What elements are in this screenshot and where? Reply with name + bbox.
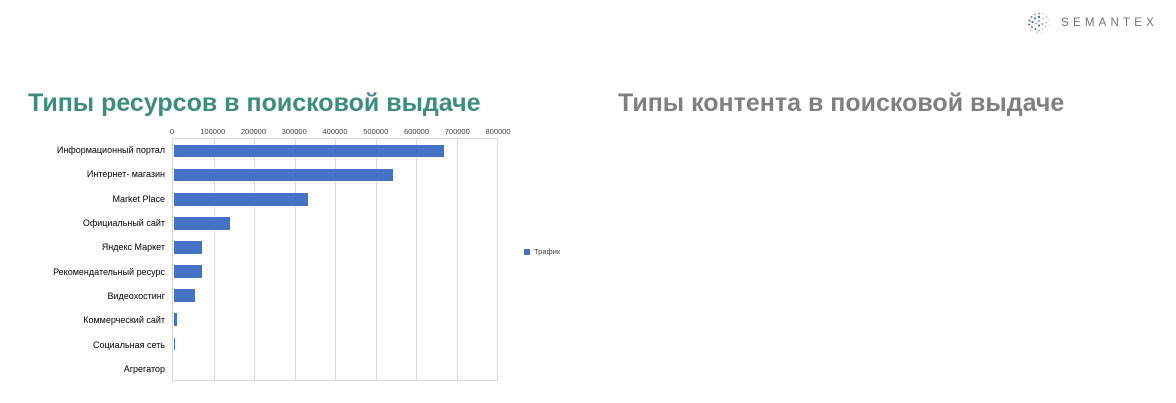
bar bbox=[174, 241, 202, 254]
legend-resource-types: Трафик bbox=[524, 247, 560, 256]
gridline bbox=[497, 139, 498, 380]
category-label: Информационный портал bbox=[57, 145, 165, 155]
x-axis-tick-label: 700000 bbox=[445, 127, 470, 136]
bar bbox=[174, 145, 444, 158]
gridline bbox=[457, 139, 458, 380]
category-label: Коммерческий сайт bbox=[83, 315, 165, 325]
chart-panel-content-types: Типы контента в поисковой выдаче 0100000… bbox=[588, 0, 1176, 403]
x-axis-tick-label: 0 bbox=[170, 127, 174, 136]
bar bbox=[174, 193, 308, 206]
y-axis-category-labels-content-types: КаталогСтатьяСтраница с отзывамиВидеорол… bbox=[1151, 138, 1176, 381]
x-axis-tick-label: 600000 bbox=[404, 127, 429, 136]
x-axis-tick-label: 100000 bbox=[200, 127, 225, 136]
category-label: Агрегатор bbox=[124, 364, 165, 374]
category-label: Интернет- магазин bbox=[87, 169, 165, 179]
gridline bbox=[416, 139, 417, 380]
bar bbox=[174, 289, 195, 302]
x-axis-tick-labels-resource-types: 0100000200000300000400000500000600000700… bbox=[172, 118, 498, 138]
legend-label: Трафик bbox=[534, 247, 560, 256]
plot-area-resource-types bbox=[172, 138, 498, 381]
x-axis-tick-label: 400000 bbox=[322, 127, 347, 136]
category-label: Видеохостинг bbox=[108, 291, 166, 301]
category-label: Социальная сеть bbox=[93, 340, 165, 350]
plot-wrapper-resource-types: 0100000200000300000400000500000600000700… bbox=[172, 138, 498, 381]
category-label: Официальный сайт bbox=[83, 218, 165, 228]
category-label: Рекомендательный ресурс bbox=[53, 267, 165, 277]
chart-panel-resource-types: Типы ресурсов в поисковой выдаче 0100000… bbox=[0, 0, 588, 403]
x-axis-tick-label: 300000 bbox=[282, 127, 307, 136]
bar bbox=[174, 217, 230, 230]
category-label: Яндекс Маркет bbox=[102, 242, 165, 252]
bar bbox=[174, 169, 393, 182]
chart-title-content-types: Типы контента в поисковой выдаче bbox=[618, 89, 1064, 118]
chart-title-resource-types: Типы ресурсов в поисковой выдаче bbox=[28, 89, 481, 118]
x-axis-tick-label: 500000 bbox=[363, 127, 388, 136]
x-axis-tick-label: 800000 bbox=[485, 127, 510, 136]
bar bbox=[174, 265, 202, 278]
y-axis-category-labels-resource-types: Информационный порталИнтернет- магазинMa… bbox=[0, 138, 172, 381]
legend-swatch-icon bbox=[524, 249, 530, 255]
x-axis-tick-label: 200000 bbox=[241, 127, 266, 136]
bar bbox=[174, 313, 177, 326]
category-label: Market Place bbox=[112, 194, 165, 204]
